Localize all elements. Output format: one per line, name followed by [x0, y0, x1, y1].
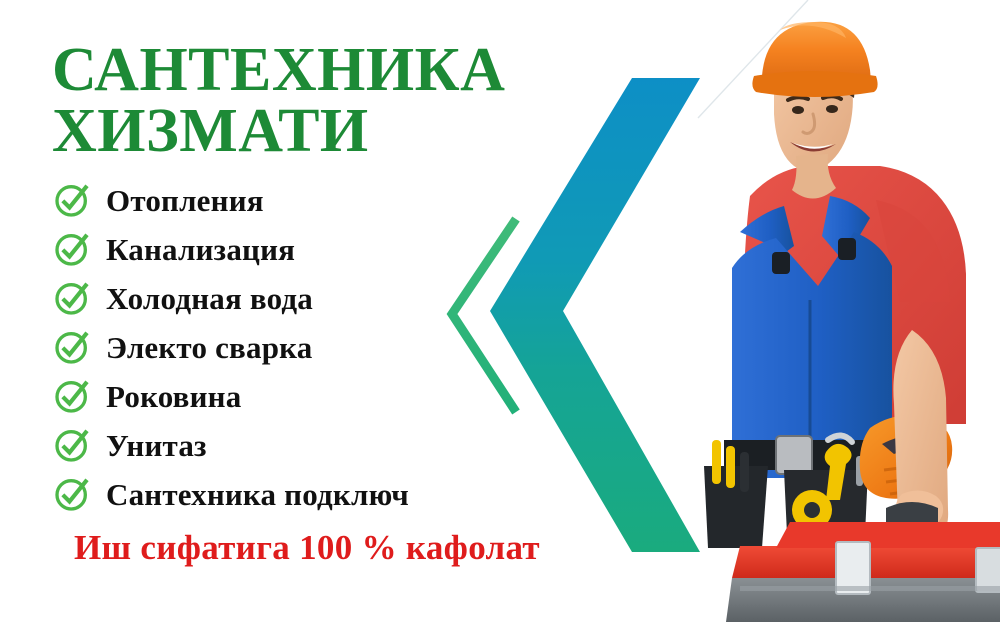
- toolbox-lid-top: [776, 522, 1000, 548]
- eye-left: [792, 106, 804, 114]
- list-item: Роковина: [52, 372, 652, 421]
- check-circle-icon: [52, 474, 92, 514]
- banner-root: САНТЕХНИКА ХИЗМАТИ Отопления Канализация: [0, 0, 1000, 622]
- services-list: Отопления Канализация Холодная вода: [52, 176, 652, 519]
- list-item-label: Канализация: [106, 234, 295, 265]
- eye-right: [826, 105, 838, 113]
- list-item: Холодная вода: [52, 274, 652, 323]
- plumber-worker-photo: [680, 0, 1000, 622]
- check-circle-icon: [52, 376, 92, 416]
- list-item-label: Холодная вода: [106, 283, 313, 314]
- check-circle-icon: [52, 425, 92, 465]
- list-item: Электо сварка: [52, 323, 652, 372]
- check-circle-icon: [52, 278, 92, 318]
- hard-hat-brim: [752, 71, 877, 97]
- check-circle-icon: [52, 327, 92, 367]
- list-item-label: Электо сварка: [106, 332, 312, 363]
- toolbox-handle: [886, 502, 938, 522]
- check-circle-icon: [52, 180, 92, 220]
- list-item: Сантехника подключ: [52, 470, 652, 519]
- screwdriver-dark: [740, 452, 749, 492]
- toolbox-latch-right: [976, 548, 1000, 592]
- text-content-column: САНТЕХНИКА ХИЗМАТИ Отопления Канализация: [52, 40, 652, 565]
- belt-buckle: [776, 436, 812, 474]
- list-item: Отопления: [52, 176, 652, 225]
- list-item: Канализация: [52, 225, 652, 274]
- guarantee-text: Иш сифатига 100 % кафолат: [74, 530, 652, 565]
- list-item-label: Унитаз: [106, 430, 207, 461]
- strap-buckle-right: [838, 238, 856, 260]
- screwdriver-yellow-2: [726, 446, 735, 488]
- page-title: САНТЕХНИКА ХИЗМАТИ: [52, 40, 652, 162]
- screwdriver-yellow-1: [712, 440, 721, 484]
- strap-buckle-left: [772, 252, 790, 274]
- check-circle-icon: [52, 229, 92, 269]
- list-item: Унитаз: [52, 421, 652, 470]
- list-item-label: Роковина: [106, 381, 241, 412]
- list-item-label: Сантехника подключ: [106, 479, 409, 510]
- list-item-label: Отопления: [106, 185, 264, 216]
